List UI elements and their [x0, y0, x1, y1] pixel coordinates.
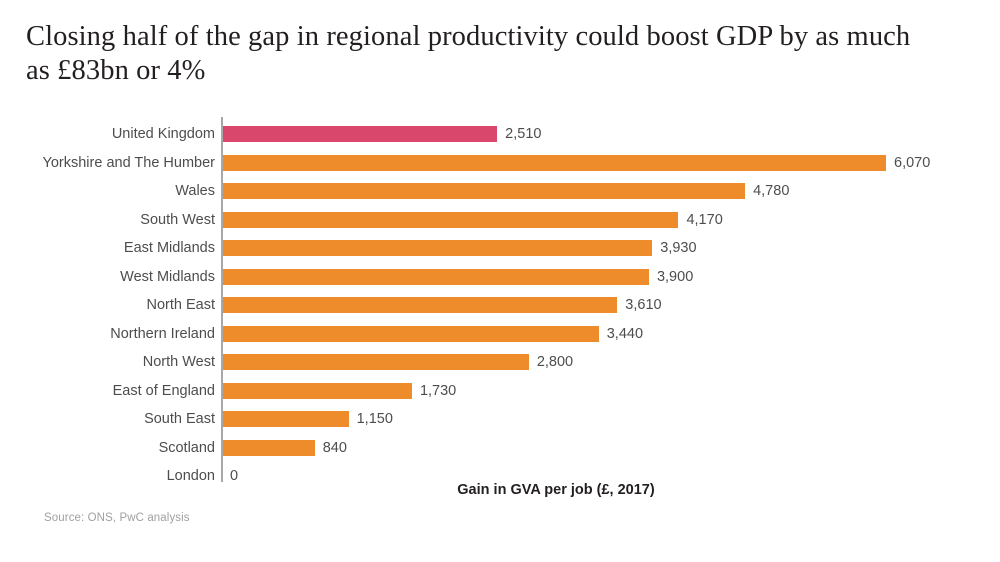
bar-highlighted[interactable]	[223, 126, 497, 142]
bar[interactable]	[223, 383, 412, 399]
bar-value-label: 3,900	[657, 269, 693, 285]
bar-container: 4,170	[223, 206, 723, 235]
bar-row: Scotland840	[0, 434, 1000, 463]
bar-value-label: 3,930	[660, 240, 696, 256]
bar-value-label: 2,800	[537, 354, 573, 370]
bar-chart-plot-area: United Kingdom2,510Yorkshire and The Hum…	[0, 112, 1000, 482]
bar-row: West Midlands3,900	[0, 263, 1000, 292]
bar-value-label: 4,780	[753, 183, 789, 199]
bar-container: 3,440	[223, 320, 643, 349]
bar[interactable]	[223, 354, 529, 370]
source-note: Source: ONS, PwC analysis	[44, 512, 190, 524]
bar-value-label: 1,730	[420, 383, 456, 399]
bar[interactable]	[223, 183, 745, 199]
bar-container: 6,070	[223, 149, 930, 178]
bar-row: South East1,150	[0, 405, 1000, 434]
bar[interactable]	[223, 440, 315, 456]
bar-category-label: North West	[143, 348, 215, 377]
bar-category-label: Wales	[175, 177, 215, 206]
x-axis-title: Gain in GVA per job (£, 2017)	[0, 482, 1000, 498]
bar-category-label: West Midlands	[120, 263, 215, 292]
bar-container: 1,150	[223, 405, 393, 434]
bar-row: East Midlands3,930	[0, 234, 1000, 263]
bar-category-label: South West	[140, 206, 215, 235]
bar-row: Yorkshire and The Humber6,070	[0, 149, 1000, 178]
bar-category-label: Yorkshire and The Humber	[43, 149, 216, 178]
bar[interactable]	[223, 411, 349, 427]
bar-value-label: 3,440	[607, 326, 643, 342]
bar-container: 3,610	[223, 291, 662, 320]
bar-category-label: United Kingdom	[112, 120, 215, 149]
bar-category-label: South East	[144, 405, 215, 434]
bar-value-label: 6,070	[894, 155, 930, 171]
bar-row: South West4,170	[0, 206, 1000, 235]
bar-container: 3,900	[223, 263, 693, 292]
bar-container: 2,800	[223, 348, 573, 377]
bar-value-label: 4,170	[686, 212, 722, 228]
bar-row: East of England1,730	[0, 377, 1000, 406]
bar[interactable]	[223, 240, 652, 256]
bar-container: 2,510	[223, 120, 541, 149]
bar-row: Wales4,780	[0, 177, 1000, 206]
bar-row: North East3,610	[0, 291, 1000, 320]
bar-value-label: 2,510	[505, 126, 541, 142]
bar-category-label: East of England	[113, 377, 215, 406]
bar[interactable]	[223, 212, 678, 228]
bar[interactable]	[223, 297, 617, 313]
bar-category-label: East Midlands	[124, 234, 215, 263]
bar-value-label: 3,610	[625, 297, 661, 313]
bar-container: 3,930	[223, 234, 697, 263]
bar-category-label: Northern Ireland	[110, 320, 215, 349]
bar-category-label: Scotland	[159, 434, 215, 463]
chart-figure: Closing half of the gap in regional prod…	[0, 0, 1000, 562]
bar-value-label: 840	[323, 440, 347, 456]
bar-container: 840	[223, 434, 347, 463]
bar-row: North West2,800	[0, 348, 1000, 377]
bar[interactable]	[223, 155, 886, 171]
bar-row: Northern Ireland3,440	[0, 320, 1000, 349]
page-title: Closing half of the gap in regional prod…	[26, 20, 926, 88]
bar[interactable]	[223, 326, 599, 342]
bar-row: United Kingdom2,510	[0, 120, 1000, 149]
bar-category-label: North East	[147, 291, 216, 320]
bar-container: 1,730	[223, 377, 456, 406]
bar-value-label: 1,150	[357, 411, 393, 427]
bar[interactable]	[223, 269, 649, 285]
bar-container: 4,780	[223, 177, 789, 206]
